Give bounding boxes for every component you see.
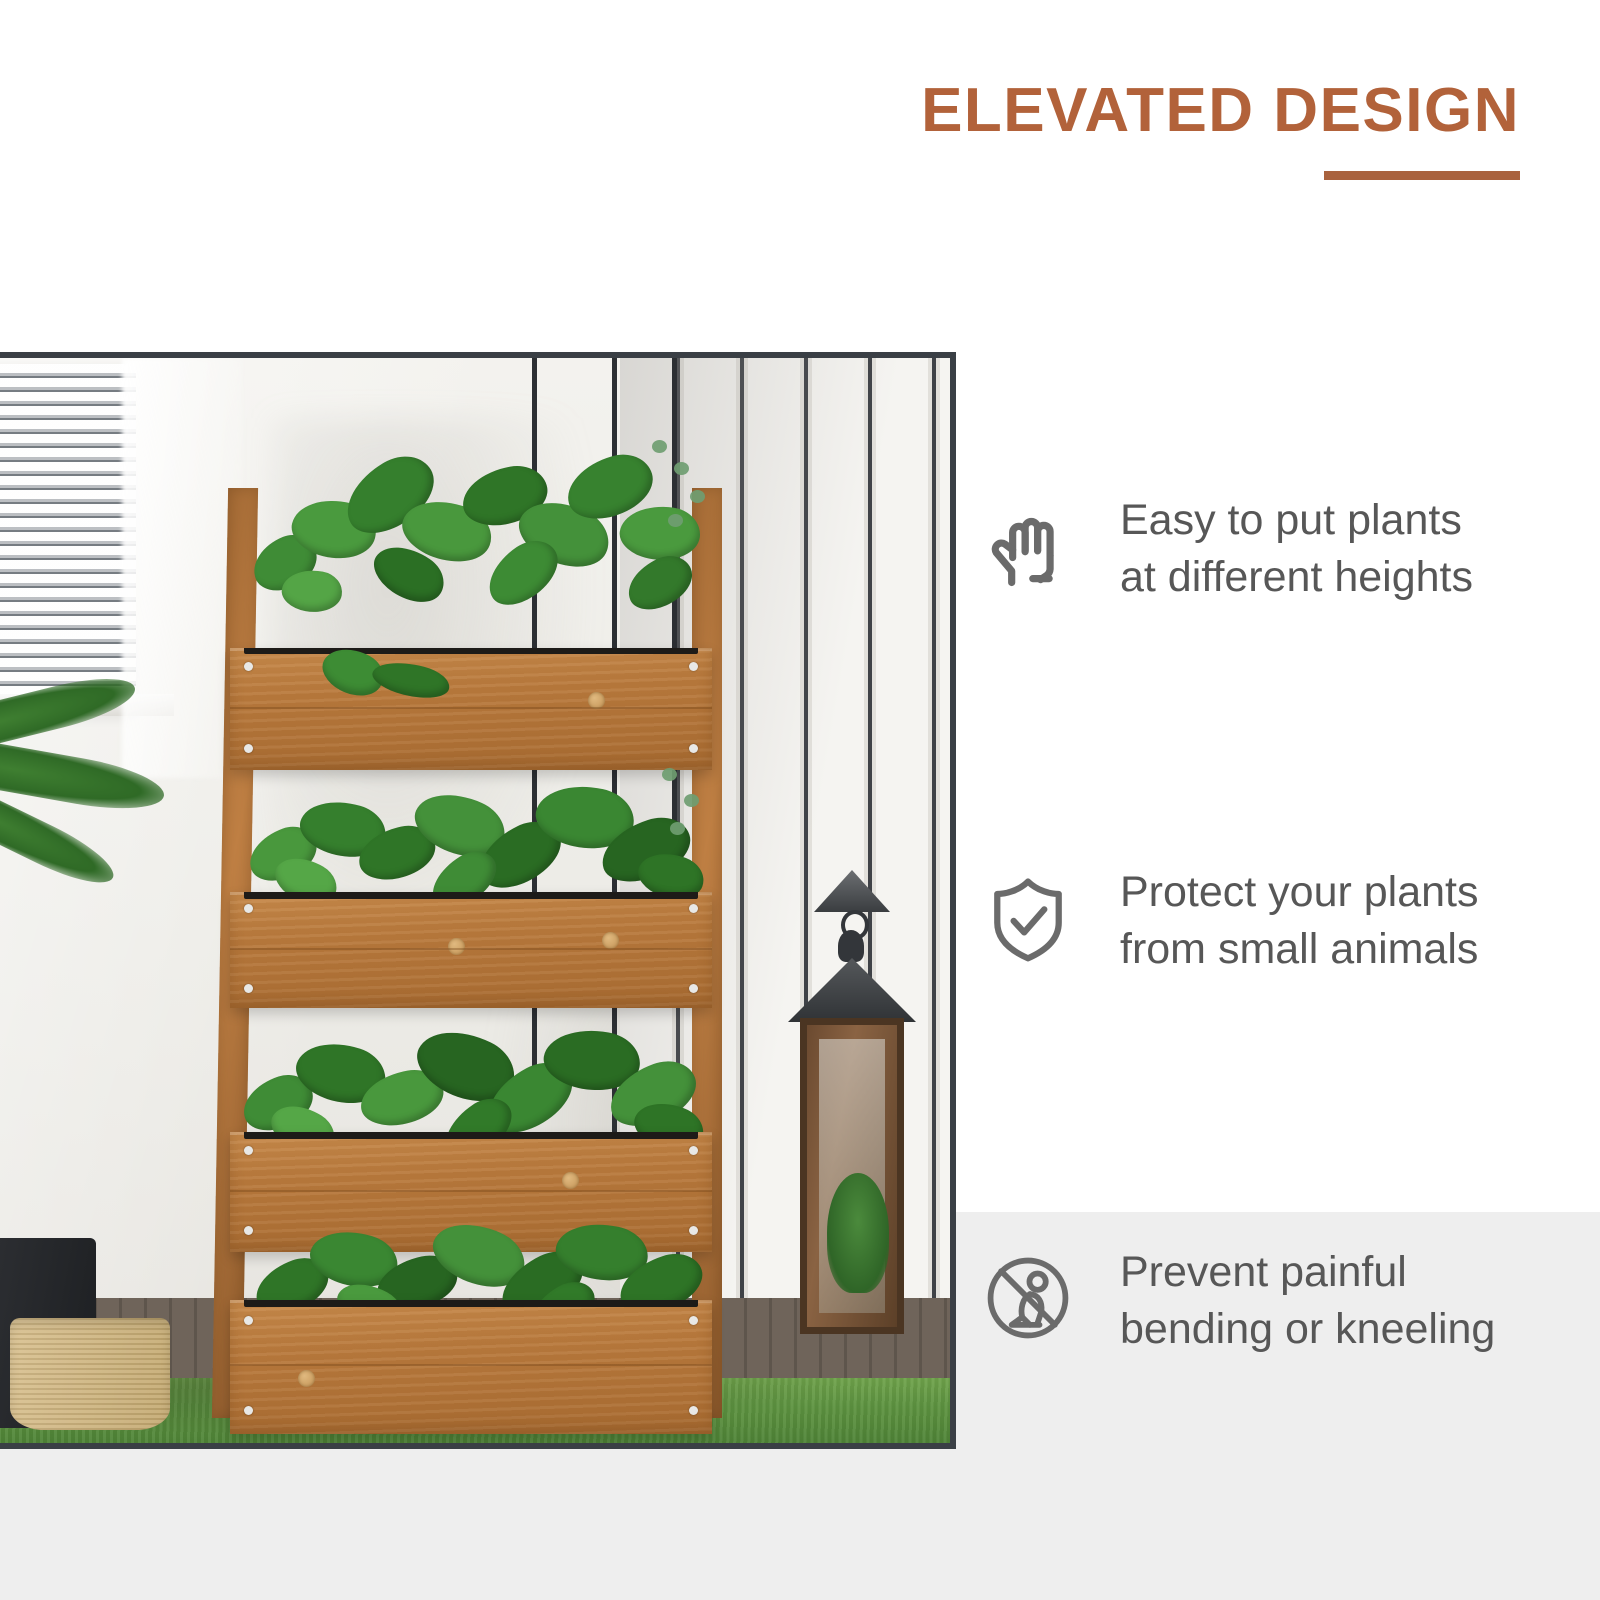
headline-block: ELEVATED DESIGN xyxy=(880,78,1520,180)
planter-tier-3 xyxy=(230,1132,712,1252)
feature-item-easy-heights: Easy to put plants at different heights xyxy=(972,490,1473,606)
feature-label: Prevent painful bending or kneeling xyxy=(1120,1242,1495,1358)
planter-tier-1 xyxy=(230,648,712,770)
product-photo xyxy=(0,358,950,1443)
artificial-palm-plant xyxy=(0,688,242,1308)
window-blinds xyxy=(0,364,136,694)
woven-basket xyxy=(10,1318,170,1430)
page-title: ELEVATED DESIGN xyxy=(880,78,1520,143)
feature-label: Protect your plants from small animals xyxy=(1120,862,1479,978)
wooden-lantern xyxy=(800,1018,904,1334)
planter-tier-4 xyxy=(230,1300,712,1434)
lantern-bush xyxy=(827,1173,889,1293)
palm-frond xyxy=(0,794,122,896)
product-photo-panel xyxy=(0,352,956,1449)
hand-icon xyxy=(972,490,1084,602)
feature-item-no-bending: Prevent painful bending or kneeling xyxy=(972,1242,1495,1358)
feature-item-protect-plants: Protect your plants from small animals xyxy=(972,862,1479,978)
window xyxy=(0,364,136,716)
lantern-finial xyxy=(838,930,864,962)
palm-frond xyxy=(0,743,168,818)
shield-check-icon xyxy=(972,862,1084,974)
no-bending-icon xyxy=(972,1242,1084,1354)
planter-tier-2 xyxy=(230,892,712,1008)
title-accent-rule xyxy=(1324,171,1520,180)
tiered-planter xyxy=(212,488,722,1418)
feature-label: Easy to put plants at different heights xyxy=(1120,490,1473,606)
